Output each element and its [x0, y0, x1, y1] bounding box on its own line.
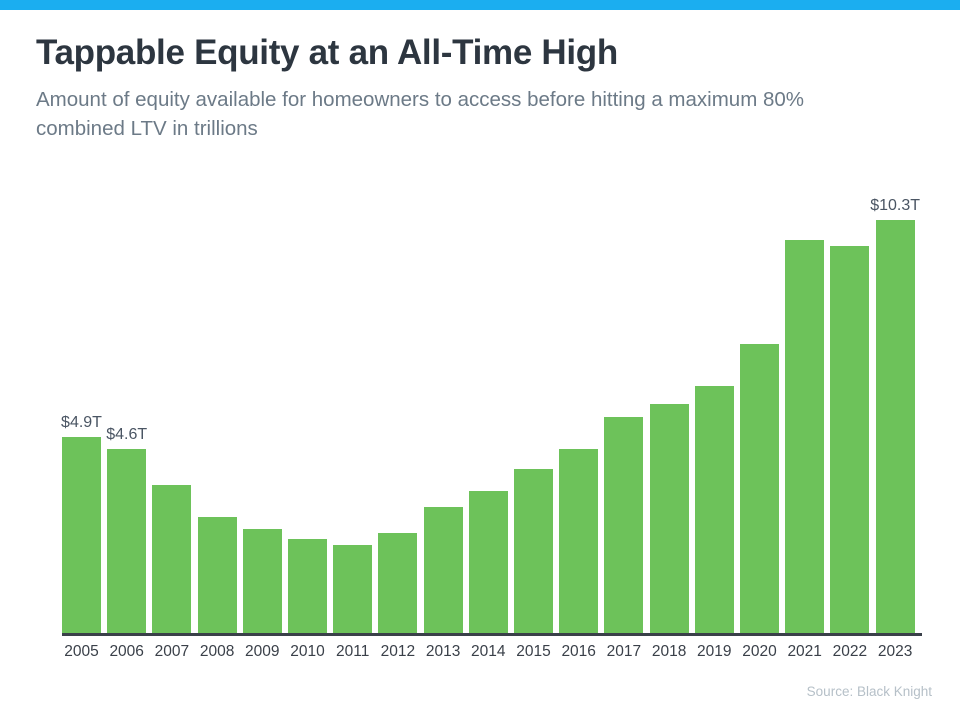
bar-rect-2010 — [288, 539, 327, 633]
bar-rect-2014 — [469, 491, 508, 633]
page-title: Tappable Equity at an All-Time High — [36, 34, 926, 73]
x-tick-label-2011: 2011 — [333, 642, 372, 662]
source-attribution: Source: Black Knight — [807, 684, 932, 699]
bar-2011 — [333, 196, 372, 633]
bar-rect-2006 — [107, 449, 146, 633]
bar-rect-2021 — [785, 240, 824, 633]
x-tick-label-2010: 2010 — [288, 642, 327, 662]
x-tick-label-2006: 2006 — [107, 642, 146, 662]
x-tick-label-2008: 2008 — [198, 642, 237, 662]
chart-plot-area: $4.9T$4.6T$10.3T — [62, 196, 922, 636]
bar-2007 — [152, 196, 191, 633]
x-tick-label-2019: 2019 — [695, 642, 734, 662]
bar-rect-2012 — [378, 533, 417, 633]
bar-2017 — [604, 196, 643, 633]
bar-value-label-2023: $10.3T — [870, 198, 920, 214]
bar-2010 — [288, 196, 327, 633]
bar-2013 — [424, 196, 463, 633]
bar-rect-2013 — [424, 507, 463, 633]
x-axis-baseline — [62, 633, 922, 636]
bar-2023: $10.3T — [876, 196, 915, 633]
x-tick-label-2007: 2007 — [152, 642, 191, 662]
bar-2021 — [785, 196, 824, 633]
bar-rect-2009 — [243, 529, 282, 633]
bar-2008 — [198, 196, 237, 633]
bar-2018 — [650, 196, 689, 633]
bar-rect-2022 — [830, 246, 869, 633]
bar-value-label-2006: $4.6T — [106, 427, 147, 443]
bar-value-label-2005: $4.9T — [61, 415, 102, 431]
bar-rect-2019 — [695, 386, 734, 633]
x-tick-label-2012: 2012 — [378, 642, 417, 662]
x-tick-label-2018: 2018 — [650, 642, 689, 662]
bar-rect-2017 — [604, 417, 643, 633]
bar-series: $4.9T$4.6T$10.3T — [62, 196, 922, 633]
bar-2009 — [243, 196, 282, 633]
x-tick-label-2013: 2013 — [424, 642, 463, 662]
chart-header: Tappable Equity at an All-Time High Amou… — [36, 34, 926, 143]
bar-rect-2023 — [876, 220, 915, 633]
x-tick-label-2009: 2009 — [243, 642, 282, 662]
bar-rect-2011 — [333, 545, 372, 633]
bar-2006: $4.6T — [107, 196, 146, 633]
top-accent-bar — [0, 0, 960, 10]
bar-2022 — [830, 196, 869, 633]
bar-rect-2007 — [152, 485, 191, 633]
x-tick-label-2016: 2016 — [559, 642, 598, 662]
bar-rect-2018 — [650, 404, 689, 633]
bar-rect-2015 — [514, 469, 553, 633]
bar-2020 — [740, 196, 779, 633]
x-tick-label-2015: 2015 — [514, 642, 553, 662]
bar-2005: $4.9T — [62, 196, 101, 633]
x-tick-label-2005: 2005 — [62, 642, 101, 662]
x-axis-tick-labels: 2005200620072008200920102011201220132014… — [62, 642, 922, 664]
x-tick-label-2021: 2021 — [785, 642, 824, 662]
x-tick-label-2022: 2022 — [830, 642, 869, 662]
x-tick-label-2017: 2017 — [604, 642, 643, 662]
bar-rect-2020 — [740, 344, 779, 633]
bar-2016 — [559, 196, 598, 633]
x-tick-label-2014: 2014 — [469, 642, 508, 662]
bar-rect-2008 — [198, 517, 237, 633]
bar-2014 — [469, 196, 508, 633]
bar-2019 — [695, 196, 734, 633]
bar-rect-2005 — [62, 437, 101, 633]
x-tick-label-2020: 2020 — [740, 642, 779, 662]
chart-subtitle: Amount of equity available for homeowner… — [36, 85, 876, 143]
bar-2015 — [514, 196, 553, 633]
x-tick-label-2023: 2023 — [876, 642, 915, 662]
bar-2012 — [378, 196, 417, 633]
bar-rect-2016 — [559, 449, 598, 633]
